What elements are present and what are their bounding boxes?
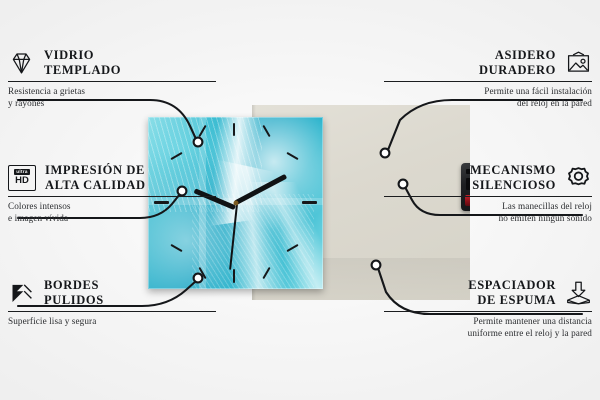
- gear-icon: [565, 166, 592, 190]
- feature-desc-line1: Superficie lisa y segura: [8, 316, 216, 328]
- clock-tick: [262, 125, 270, 137]
- feature-header: ESPACIADOR DE ESPUMA: [384, 278, 592, 307]
- feature-header: ASIDERO DURADERO: [384, 48, 592, 77]
- feature-title-line2: TEMPLADO: [44, 63, 121, 78]
- feature-desc-line1: Las manecillas del reloj: [384, 201, 592, 213]
- picture-hanger-icon: [565, 51, 592, 75]
- divider: [384, 311, 592, 312]
- feature-title-line2: SILENCIOSO: [470, 178, 556, 193]
- polished-edges-icon: [8, 281, 35, 305]
- feature-title-line1: VIDRIO: [44, 48, 121, 63]
- feature-title-line2: DURADERO: [479, 63, 556, 78]
- feature-mecanismo-silencioso: MECANISMO SILENCIOSO Las manecillas del …: [384, 163, 592, 224]
- infographic-canvas: VIDRIO TEMPLADO Resistencia a grietas y …: [0, 0, 600, 400]
- divider: [8, 81, 216, 82]
- feature-header: ultra HD IMPRESIÓN DE ALTA CALIDAD: [8, 163, 216, 192]
- feature-title-line1: IMPRESIÓN DE: [45, 163, 146, 178]
- feature-title-line1: BORDES: [44, 278, 104, 293]
- clock-tick: [170, 244, 182, 252]
- diamond-icon: [8, 51, 35, 75]
- divider: [8, 196, 216, 197]
- foam-spacer-icon: [565, 281, 592, 305]
- feature-desc-line1: Resistencia a grietas: [8, 86, 216, 98]
- feature-desc-line1: Colores intensos: [8, 201, 216, 213]
- feature-title-line1: ESPACIADOR: [468, 278, 556, 293]
- feature-title-line1: ASIDERO: [479, 48, 556, 63]
- divider: [384, 81, 592, 82]
- feature-header: MECANISMO SILENCIOSO: [384, 163, 592, 192]
- clock-tick: [286, 152, 298, 160]
- feature-desc-line2: del reloj en la pared: [384, 98, 592, 110]
- clock-tick: [302, 201, 317, 204]
- feature-desc-line2: y rayones: [8, 98, 216, 110]
- feature-espaciador-espuma: ESPACIADOR DE ESPUMA Permite mantener un…: [384, 278, 592, 339]
- feature-desc-line2: uniforme entre el reloj y la pared: [384, 328, 592, 340]
- divider: [384, 196, 592, 197]
- feature-impresion-alta-calidad: ultra HD IMPRESIÓN DE ALTA CALIDAD Color…: [8, 163, 216, 224]
- clock-tick: [233, 269, 235, 283]
- divider: [8, 311, 216, 312]
- feature-title-line1: MECANISMO: [470, 163, 556, 178]
- feature-desc-line1: Permite una fácil instalación: [384, 86, 592, 98]
- feature-title-line2: ALTA CALIDAD: [45, 178, 146, 193]
- feature-desc-line1: Permite mantener una distancia: [384, 316, 592, 328]
- feature-desc-line2: no emiten ningún sonido: [384, 213, 592, 225]
- clock-tick: [233, 123, 235, 136]
- feature-title-line2: DE ESPUMA: [468, 293, 556, 308]
- feature-title-line2: PULIDOS: [44, 293, 104, 308]
- clock-tick: [286, 244, 298, 252]
- clock-center-pin: [233, 201, 238, 206]
- feature-bordes-pulidos: BORDES PULIDOS Superficie lisa y segura: [8, 278, 216, 328]
- feature-header: VIDRIO TEMPLADO: [8, 48, 216, 77]
- feature-desc-line2: e imagen vívida: [8, 213, 216, 225]
- ultra-hd-icon: ultra HD: [8, 165, 36, 191]
- feature-asidero-duradero: ASIDERO DURADERO Permite una fácil insta…: [384, 48, 592, 109]
- second-hand: [229, 204, 238, 270]
- ultra-hd-icon-large-text: HD: [15, 176, 29, 186]
- clock-tick: [262, 267, 270, 279]
- feature-header: BORDES PULIDOS: [8, 278, 216, 307]
- feature-vidrio-templado: VIDRIO TEMPLADO Resistencia a grietas y …: [8, 48, 216, 109]
